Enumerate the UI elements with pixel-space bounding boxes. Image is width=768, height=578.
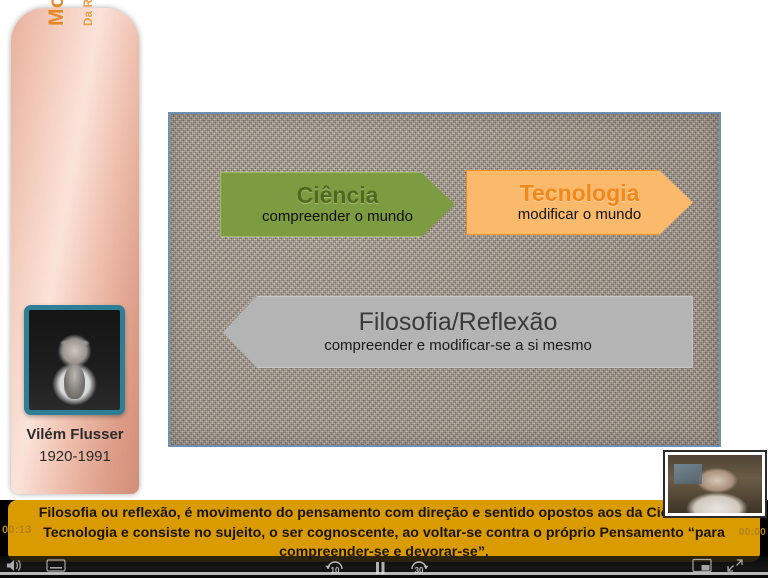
presentation-slide: Movimentos do Pensamento Da Religiosidad… [0,0,768,500]
forward-30-label: 30 [415,566,424,576]
forward-30-button[interactable]: 30 [406,559,432,576]
cc-icon-glyph [46,558,66,573]
closed-captions-icon[interactable] [46,558,66,578]
arrow-filosofia-subtitle: compreender e modificar-se a si mesmo [324,337,592,355]
portrait-frame [24,305,125,415]
remaining-time-label: 00:00 [739,527,766,538]
volume-icon[interactable] [6,558,24,578]
pause-button[interactable] [372,559,388,576]
arrow-tecnologia-subtitle: modificar o mundo [518,206,641,224]
sidebar-title-block: Movimentos do Pensamento Da Religiosidad… [11,8,139,304]
arrow-filosofia: Filosofia/Reflexão compreender e modific… [223,296,693,368]
player-controls-bar[interactable]: 10 30 [0,556,768,578]
picture-in-picture-icon[interactable] [692,558,712,578]
arrow-filosofia-title: Filosofia/Reflexão [359,309,558,335]
rewind-10-label: 10 [331,566,340,576]
presenter-webcam-video [668,455,762,513]
slide-sidebar: Movimentos do Pensamento Da Religiosidad… [11,8,139,494]
arrow-tecnologia: Tecnologia modificar o mundo [466,170,693,235]
video-player-stage: Movimentos do Pensamento Da Religiosidad… [0,0,768,578]
slide-title-subtitle: Da Religiosidade: Pensamento e Reflexão [83,0,95,26]
fullscreen-icon-glyph [726,558,744,573]
arrow-ciencia-title: Ciência [297,183,379,207]
pip-icon-glyph [692,558,712,573]
pause-icon [374,561,386,575]
caption-text: Filosofia ou reflexão, é movimento do pe… [20,504,748,563]
arrow-tecnologia-title: Tecnologia [520,181,640,205]
diagram-panel: Ciência compreender o mundo Tecnologia m… [168,112,721,447]
person-years-label: 1920-1991 [11,448,139,465]
volume-icon-glyph [6,558,24,573]
slide-title-main: Movimentos do Pensamento [45,0,69,26]
portrait-image [29,310,120,410]
caption-bar: Filosofia ou reflexão, é movimento do pe… [8,500,760,562]
presenter-webcam[interactable] [663,450,767,518]
arrow-ciencia-subtitle: compreender o mundo [262,208,413,226]
arrow-ciencia: Ciência compreender o mundo [220,172,455,237]
person-name-label: Vilém Flusser [11,426,139,443]
elapsed-time-label: 00:13 [2,524,32,536]
rewind-10-button[interactable]: 10 [322,559,348,576]
fullscreen-icon[interactable] [726,558,744,578]
